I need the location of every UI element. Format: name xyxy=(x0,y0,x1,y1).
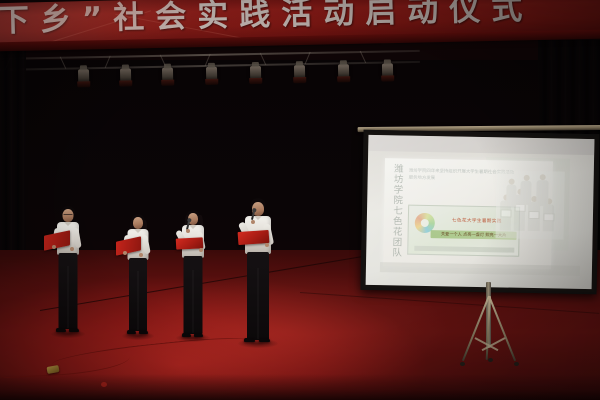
screen-surface: 潍坊学院七色花团队 潍坊学院四年来坚持组织开展大学生暑期社会实践活动 服务地方发… xyxy=(366,135,595,289)
stage-light xyxy=(338,64,349,77)
tripod-leg xyxy=(488,296,516,362)
photo-child-sign xyxy=(500,209,511,217)
performer-shoe xyxy=(56,328,66,332)
performer-leg-split xyxy=(138,271,139,330)
floor-marker xyxy=(101,382,107,387)
performer-hand xyxy=(70,247,74,251)
performer-hand xyxy=(186,229,190,233)
stage-light xyxy=(120,68,131,81)
stage-light xyxy=(294,65,305,78)
slide-group-photo xyxy=(496,170,565,239)
performer-hand xyxy=(123,251,127,255)
performer-4[interactable] xyxy=(234,198,282,346)
performer-hand xyxy=(265,243,269,247)
performer-shoe xyxy=(139,330,148,334)
performer-leg-split xyxy=(193,270,194,333)
photo-child-head xyxy=(509,179,515,185)
slide-inset-strip xyxy=(414,246,514,253)
stage-photo-scene: 下乡”社会实践活动启动仪式 潍坊学院七色花团队 潍坊学院四年来坚持组织开展大学生… xyxy=(0,0,600,400)
performer-shoe xyxy=(244,338,255,342)
performer-shoe xyxy=(182,333,191,337)
performer-hand xyxy=(251,220,255,224)
tripod-foot xyxy=(514,362,519,366)
photo-child-sign xyxy=(543,213,554,221)
photo-child xyxy=(536,180,548,206)
tripod-stand[interactable] xyxy=(452,296,526,372)
photo-child xyxy=(506,185,516,207)
stage-light xyxy=(206,67,217,80)
tripod-foot xyxy=(488,358,493,362)
photo-child xyxy=(520,181,531,205)
performer-hand xyxy=(52,245,56,249)
screen-frame: 潍坊学院七色花团队 潍坊学院四年来坚持组织开展大学生暑期社会实践活动 服务地方发… xyxy=(361,130,600,295)
photo-child-head xyxy=(540,174,546,180)
stage-light xyxy=(250,66,261,79)
performer-hand xyxy=(139,253,143,257)
tripod-foot xyxy=(460,362,465,366)
performer-3[interactable] xyxy=(172,210,214,340)
photo-child-head xyxy=(523,175,529,181)
stage-front-edge xyxy=(0,374,600,400)
glasses-icon xyxy=(64,214,73,217)
performer-1[interactable] xyxy=(48,206,88,336)
performer-shoe xyxy=(194,333,203,337)
projection-screen[interactable]: 潍坊学院七色花团队 潍坊学院四年来坚持组织开展大学生暑期社会实践活动 服务地方发… xyxy=(360,124,599,303)
photo-child xyxy=(543,204,555,231)
stage-light xyxy=(78,69,89,82)
stage-light xyxy=(382,63,393,76)
photo-child-sign xyxy=(528,211,539,219)
stage-light xyxy=(162,68,173,81)
performer-leg-split xyxy=(68,266,69,328)
performer-hand xyxy=(199,248,203,252)
performer-shoe xyxy=(127,330,136,334)
photo-child xyxy=(528,202,541,231)
performer-head xyxy=(133,217,143,229)
performer-leg-split xyxy=(258,268,259,339)
screen-upper-band xyxy=(368,135,594,155)
performer-2[interactable] xyxy=(118,214,158,338)
performer-shoe xyxy=(69,328,79,332)
slide-vertical-title: 潍坊学院七色花团队 xyxy=(388,163,403,261)
performer-shoe xyxy=(259,338,270,342)
